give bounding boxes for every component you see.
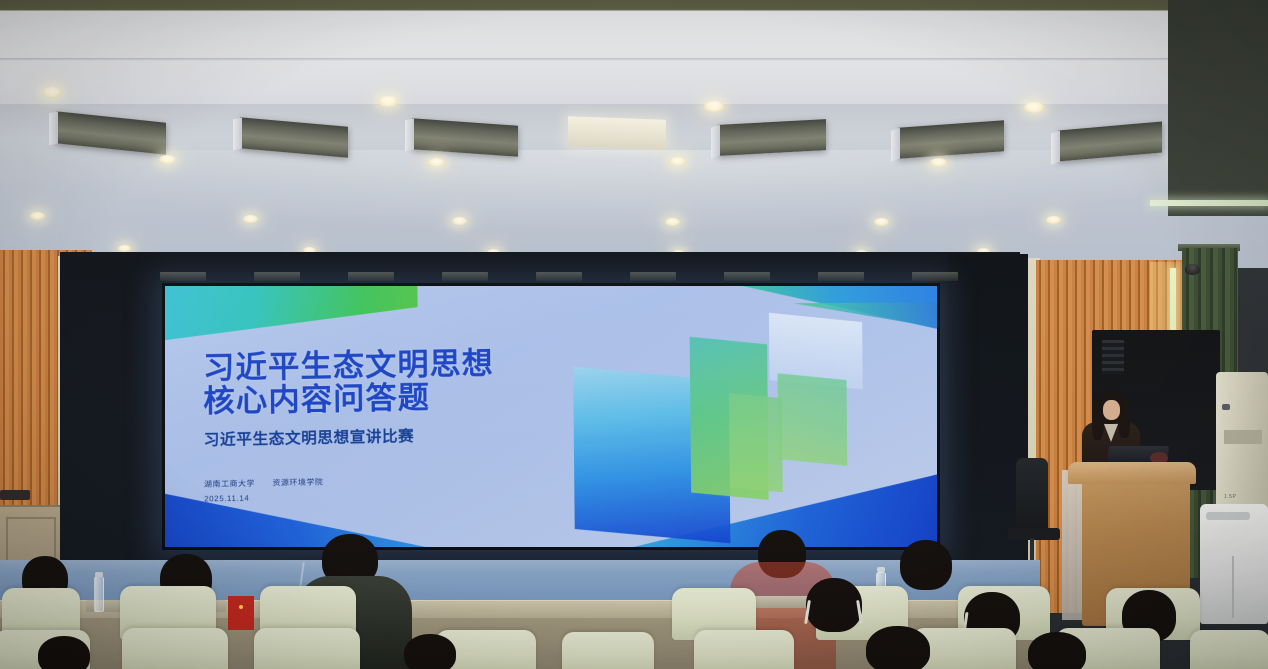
air-conditioner-label: 1.5P [1224, 494, 1236, 500]
audience-seat [1190, 630, 1268, 669]
presentation-slide: 习近平生态文明思想 核心内容问答题 习近平生态文明思想宣讲比赛 湖南工商大学 资… [165, 286, 937, 547]
office-chair-seat [1008, 528, 1060, 540]
office-chair-back [1016, 458, 1048, 536]
ceiling-downlight-icon [159, 155, 176, 164]
slide-rect-green-right [778, 373, 848, 465]
ceiling-downlight-icon [243, 215, 258, 223]
track-light-icon [630, 272, 676, 281]
podium-top [1068, 462, 1196, 484]
dehumidifier [1200, 504, 1268, 624]
ceiling-downlight-icon [30, 212, 45, 220]
water-bottle-cap [877, 567, 885, 572]
ceiling-downlight-icon [428, 158, 445, 167]
cabinet-controls [1102, 340, 1124, 374]
track-light-row [160, 272, 980, 282]
audience-seat [562, 632, 654, 669]
dome-camera-icon [1185, 264, 1200, 275]
dehumidifier-top-panel [1206, 512, 1250, 520]
water-bottle-icon [94, 576, 104, 612]
audience-seat [122, 628, 228, 669]
track-light-icon [442, 272, 488, 281]
ceiling-downlight-icon [704, 101, 724, 112]
audience-head [806, 578, 862, 632]
slide-org-university: 湖南工商大学 [204, 478, 255, 488]
slide-subtitle: 习近平生态文明思想宣讲比赛 [204, 420, 650, 450]
audience-head [404, 634, 456, 669]
track-light-icon [536, 272, 582, 281]
ceiling-light-strip [1150, 200, 1268, 206]
dehumidifier-seam [1232, 556, 1234, 618]
ceiling-downlight-icon [669, 157, 686, 166]
red-card-marker [228, 596, 254, 630]
ceiling-vent-icon [718, 119, 826, 156]
audience-head [866, 626, 930, 669]
slide-org-school: 资源环境学院 [273, 477, 324, 487]
audience-head [38, 636, 90, 669]
track-light-icon [912, 272, 958, 281]
ceiling-beam-right [1168, 0, 1268, 216]
track-light-icon [818, 272, 864, 281]
audience-seat [694, 630, 794, 669]
ceiling-downlight-icon [42, 87, 62, 98]
air-conditioner-sensor [1222, 404, 1230, 410]
water-bottle-cap [95, 572, 103, 577]
ceiling-downlight-icon [665, 218, 680, 226]
slide-title-line2: 核心内容问答题 [203, 379, 649, 420]
slide-wedge-top-left [165, 286, 418, 343]
ceiling-downlight-icon [930, 158, 947, 167]
presenter-face [1103, 400, 1120, 420]
ceiling-vent-lit-icon [568, 116, 666, 149]
slide-text-block: 习近平生态文明思想 核心内容问答题 习近平生态文明思想宣讲比赛 湖南工商大学 资… [203, 345, 651, 507]
audience-head [1028, 632, 1086, 669]
air-conditioner-panel [1224, 430, 1262, 444]
ceiling-downlight-icon [452, 217, 467, 225]
track-light-icon [254, 272, 300, 281]
projection-screen: 习近平生态文明思想 核心内容问答题 习近平生态文明思想宣讲比赛 湖南工商大学 资… [165, 286, 937, 547]
audience-head [900, 540, 952, 590]
chair-arm-left [0, 490, 30, 500]
ceiling-downlight-icon [378, 96, 398, 107]
projection-screen-frame: 习近平生态文明思想 核心内容问答题 习近平生态文明思想宣讲比赛 湖南工商大学 资… [162, 283, 940, 550]
ceiling-soffit-line [0, 58, 1268, 61]
ceiling-downlight-icon [1024, 102, 1044, 113]
ceiling-downlight-icon [1046, 216, 1061, 224]
track-light-icon [348, 272, 394, 281]
track-light-icon [160, 272, 206, 281]
ceiling-downlight-icon [874, 218, 889, 226]
auditorium-photo: 习近平生态文明思想 核心内容问答题 习近平生态文明思想宣讲比赛 湖南工商大学 资… [0, 0, 1268, 669]
audience-seat [254, 628, 360, 669]
track-light-icon [724, 272, 770, 281]
slide-rect-green-mid [729, 393, 783, 492]
ceiling-downlight-icon [118, 245, 131, 252]
